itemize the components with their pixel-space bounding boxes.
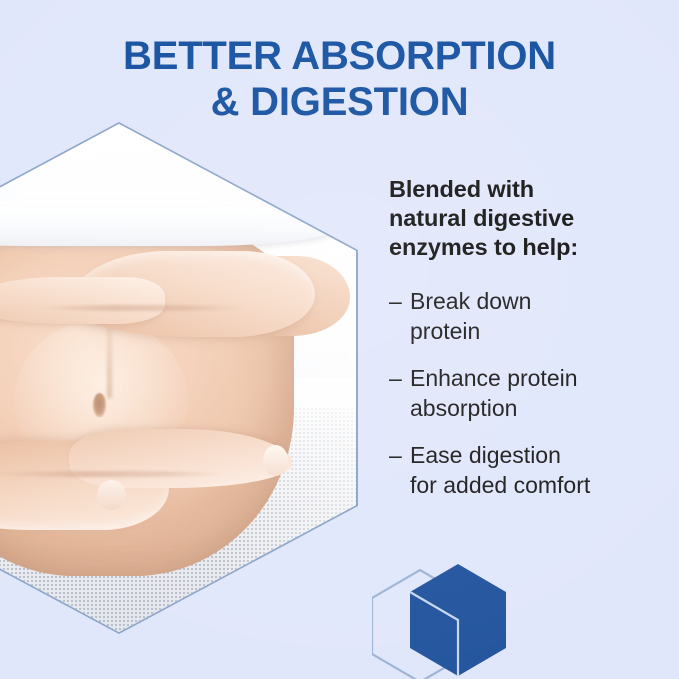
headline-line-2: & DIGESTION [0,79,679,125]
benefits-list: – Break down protein – Enhance protein a… [389,286,657,500]
list-item-text: Ease digestion for added comfort [410,440,657,500]
dash-bullet-icon: – [389,286,410,346]
benefits-lead-line-3: enzymes to help: [389,233,657,262]
dash-bullet-icon: – [389,363,410,423]
list-item: – Ease digestion for added comfort [389,440,657,500]
page-title: BETTER ABSORPTION & DIGESTION [0,33,679,125]
waistband [0,200,337,246]
list-item-text: Enhance protein absorption [410,363,657,423]
list-item-line-1: Enhance protein [410,363,657,393]
list-item-line-2: for added comfort [410,470,657,500]
headline-line-1: BETTER ABSORPTION [0,33,679,79]
hexagon-photo-frame [0,122,358,634]
benefits-lead-line-2: natural digestive [389,204,657,233]
lower-hand [0,429,299,531]
list-item-line-1: Break down [410,286,657,316]
upper-hand-crease [36,305,248,311]
hexagon-decoration [372,548,552,679]
lower-hand-fingers [69,429,292,488]
navel [93,393,106,417]
list-item-line-2: protein [410,316,657,346]
abdomen-hands-image [0,124,356,632]
benefits-lead-line-1: Blended with [389,175,657,204]
lower-hand-nail-secondary [97,480,126,510]
list-item-text: Break down protein [410,286,657,346]
benefits-lead-text: Blended with natural digestive enzymes t… [389,175,657,262]
list-item: – Enhance protein absorption [389,363,657,423]
upper-hand [0,251,309,337]
list-item-line-2: absorption [410,393,657,423]
dash-bullet-icon: – [389,440,410,500]
upper-hand-fingers [0,277,165,324]
list-item-line-1: Ease digestion [410,440,657,470]
list-item: – Break down protein [389,286,657,346]
product-lifestyle-photo [0,122,358,634]
promo-banner: BETTER ABSORPTION & DIGESTION [0,0,679,679]
lower-hand-nail [263,445,288,475]
benefits-copy-block: Blended with natural digestive enzymes t… [389,175,657,517]
hexagon-photo-inner [0,124,356,632]
